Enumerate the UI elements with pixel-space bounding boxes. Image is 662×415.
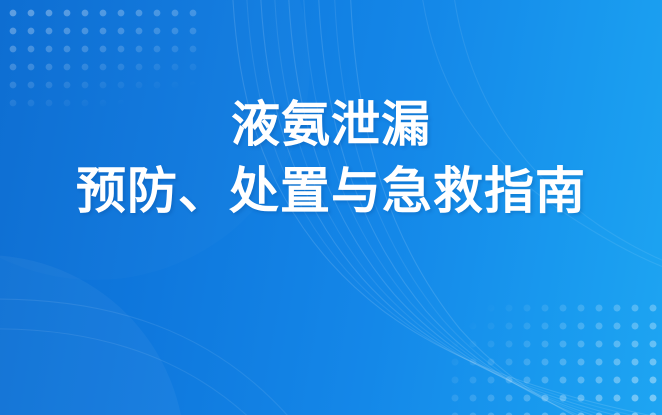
page-title: 液氨泄漏 预防、处置与急救指南 xyxy=(0,96,662,220)
decorative-circle-lower-left xyxy=(0,255,185,415)
title-banner: 液氨泄漏 预防、处置与急救指南 xyxy=(0,0,662,415)
title-line-2: 预防、处置与急救指南 xyxy=(0,162,662,220)
dot-grid-bottom-right-icon xyxy=(442,295,662,415)
title-line-1: 液氨泄漏 xyxy=(0,96,662,154)
